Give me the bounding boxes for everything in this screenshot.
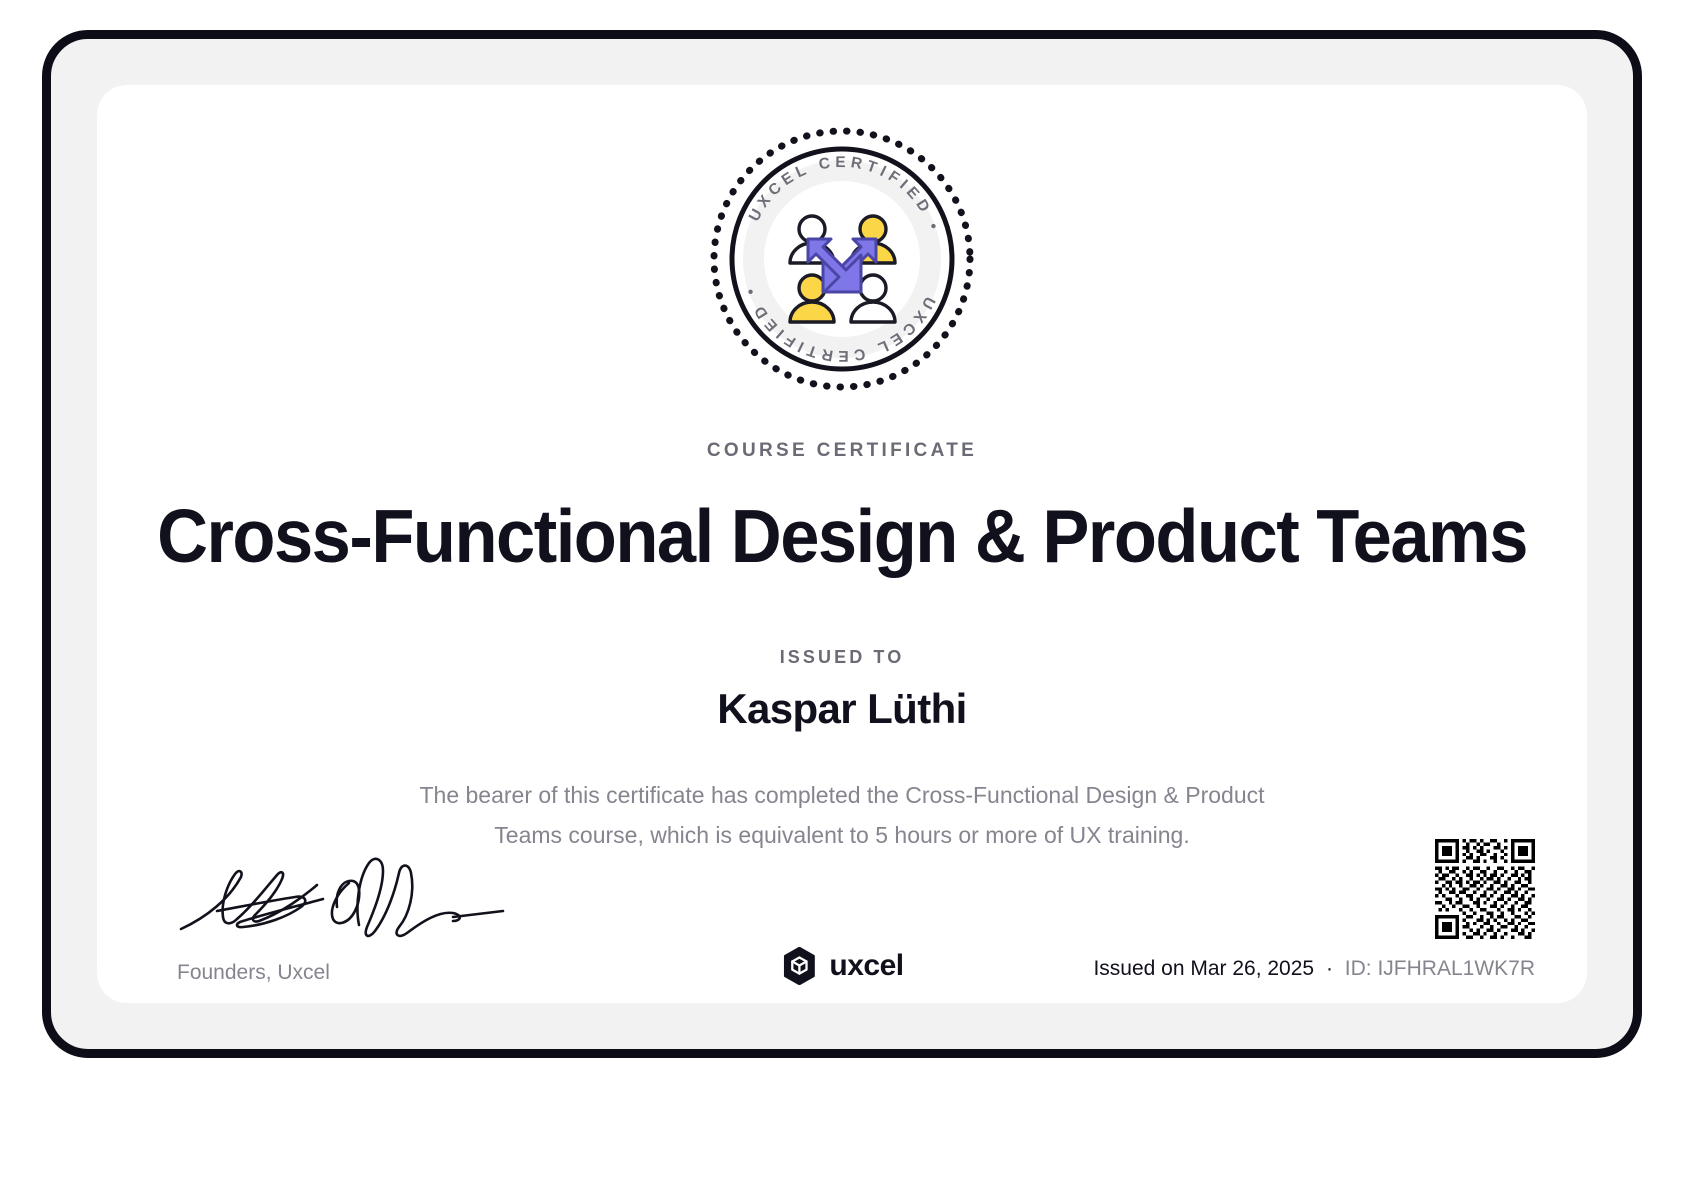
certificate-title: Cross-Functional Design & Product Teams <box>142 493 1543 579</box>
uxcel-cube-logo <box>780 947 818 985</box>
certificate-frame: UXCEL CERTIFIED • UXCEL CERTIFIED • <box>42 30 1642 1058</box>
uxcel-brand-lockup: uxcel <box>780 947 903 985</box>
founders-label: Founders, Uxcel <box>177 961 330 985</box>
certificate-description: The bearer of this certificate has compl… <box>402 775 1282 855</box>
issued-to-label: ISSUED TO <box>97 647 1587 668</box>
issue-details: Issued on Mar 26, 2025 · ID: IJFHRAL1WK7… <box>1093 957 1535 981</box>
issue-date: Issued on Mar 26, 2025 <box>1093 957 1314 980</box>
recipient-name: Kaspar Lüthi <box>97 685 1587 733</box>
certificate-kicker: COURSE CERTIFICATE <box>97 440 1587 462</box>
signature-two <box>332 859 503 936</box>
uxcel-certified-badge: UXCEL CERTIFIED • UXCEL CERTIFIED • <box>706 123 978 395</box>
certificate-card: UXCEL CERTIFIED • UXCEL CERTIFIED • <box>97 85 1587 1003</box>
signature-one <box>181 871 323 929</box>
issue-separator: · <box>1320 957 1339 980</box>
founder-signatures <box>177 855 507 945</box>
certificate-id: ID: IJFHRAL1WK7R <box>1345 957 1535 980</box>
badge-inner-disc <box>764 181 920 337</box>
uxcel-wordmark: uxcel <box>829 949 903 983</box>
verification-qr-code[interactable] <box>1435 839 1535 939</box>
